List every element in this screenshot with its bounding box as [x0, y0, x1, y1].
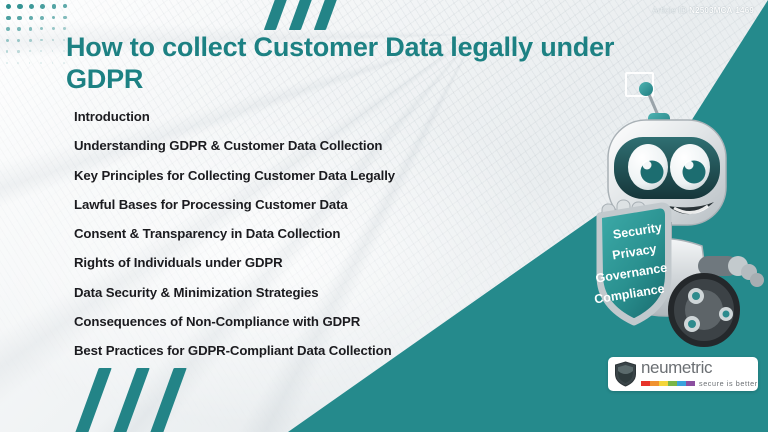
dot	[29, 4, 34, 9]
dot	[63, 16, 67, 20]
slash-bottom-3	[148, 368, 186, 432]
dot	[52, 16, 56, 20]
toc-item[interactable]: Lawful Bases for Processing Customer Dat…	[74, 198, 494, 211]
dot	[63, 62, 65, 64]
dot	[29, 62, 31, 64]
dot	[52, 39, 54, 41]
neumetric-logo[interactable]: neumetric secure is better	[608, 357, 758, 391]
logo-color-bar	[686, 381, 695, 386]
robot-wheel	[671, 276, 737, 344]
dot	[6, 16, 11, 21]
robot-mascot: Security Privacy Governance Compliance	[586, 80, 768, 350]
dot	[52, 50, 54, 52]
slash-bottom-2	[111, 368, 149, 432]
antenna-ball	[639, 82, 653, 96]
dot	[40, 4, 45, 9]
article-id-value: N2503MCA-1469	[689, 6, 754, 15]
dot	[63, 27, 66, 30]
dot	[17, 50, 19, 52]
dot	[63, 39, 65, 41]
toc-item[interactable]: Consequences of Non-Compliance with GDPR	[74, 315, 494, 328]
shield-logo-icon	[614, 361, 637, 387]
dot-grid-decoration	[6, 4, 72, 76]
dot	[17, 4, 22, 9]
dot	[40, 50, 42, 52]
dot	[29, 16, 33, 20]
dot	[52, 62, 54, 64]
logo-color-bar	[659, 381, 668, 386]
dot	[63, 50, 65, 52]
shield-graphic: Security Privacy Governance Compliance	[593, 206, 668, 322]
logo-color-bars	[641, 381, 695, 386]
toc-item[interactable]: Rights of Individuals under GDPR	[74, 256, 494, 269]
toc-item[interactable]: Key Principles for Collecting Customer D…	[74, 169, 494, 182]
logo-text-block: neumetric secure is better	[641, 360, 758, 388]
table-of-contents: IntroductionUnderstanding GDPR & Custome…	[74, 110, 494, 374]
logo-tagline: secure is better	[699, 379, 758, 388]
dot	[29, 39, 32, 42]
dot	[6, 62, 8, 64]
dot	[40, 16, 44, 20]
logo-wordmark: neumetric	[641, 360, 758, 377]
dot	[40, 27, 43, 30]
toc-item[interactable]: Consent & Transparency in Data Collectio…	[74, 227, 494, 240]
dot	[17, 27, 21, 31]
toc-item[interactable]: Understanding GDPR & Customer Data Colle…	[74, 139, 494, 152]
slash-bottom-1	[73, 368, 111, 432]
dot	[52, 4, 57, 9]
logo-color-bar	[668, 381, 677, 386]
dot	[6, 27, 10, 31]
article-id-label: Article ID N2503MCA-1469	[652, 6, 754, 15]
dot	[63, 4, 67, 8]
dot	[6, 39, 9, 42]
dot	[6, 50, 8, 52]
logo-color-bar	[677, 381, 686, 386]
logo-color-bar	[641, 381, 650, 386]
dot	[17, 16, 21, 20]
slide-canvas: Article ID N2503MCA-1469 How to collect …	[0, 0, 768, 432]
robot-hand	[728, 256, 764, 287]
robot-eye-glint-left	[643, 161, 652, 170]
dot	[29, 27, 32, 30]
dot	[29, 50, 31, 52]
robot-eye-glint-right	[685, 161, 694, 170]
article-id-prefix: Article ID	[652, 6, 686, 15]
toc-item[interactable]: Introduction	[74, 110, 494, 123]
toc-item[interactable]: Best Practices for GDPR-Compliant Data C…	[74, 344, 494, 357]
dot	[17, 62, 19, 64]
logo-color-bar	[650, 381, 659, 386]
dot	[17, 39, 20, 42]
toc-item[interactable]: Data Security & Minimization Strategies	[74, 286, 494, 299]
dot	[40, 39, 42, 41]
dot	[52, 27, 55, 30]
dot	[40, 62, 42, 64]
dot	[6, 4, 11, 9]
